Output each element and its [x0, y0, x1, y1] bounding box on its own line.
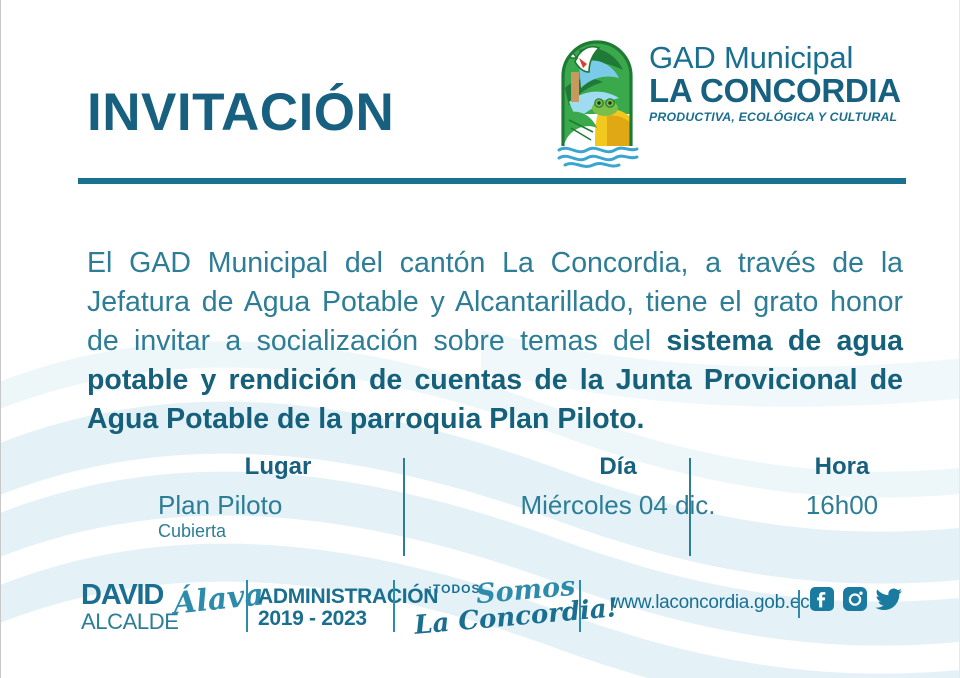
detail-dia: Día Miércoles 04 dic.: [473, 452, 763, 522]
logo-wordmark: GAD Municipal LA CONCORDIA PRODUCTIVA, E…: [649, 42, 899, 124]
header: INVITACIÓN: [1, 0, 960, 180]
website-url[interactable]: www.laconcordia.gob.ec: [611, 592, 809, 614]
city-slogan-logo: ¡TODOS Somos La Concordia!: [406, 578, 571, 636]
footer-separator-1: [246, 580, 248, 632]
logo-tagline: PRODUCTIVA, ECOLÓGICA Y CULTURAL: [649, 110, 899, 124]
detail-dia-label: Día: [473, 452, 763, 482]
detail-hora-value: 16h00: [778, 488, 906, 522]
facebook-icon[interactable]: [809, 586, 835, 612]
logo-line-gad-municipal: GAD Municipal: [649, 42, 899, 74]
detail-dia-value: Miércoles 04 dic.: [473, 488, 763, 522]
footer-separator-3: [579, 580, 581, 632]
la-concordia-coat-of-arms-icon: [549, 28, 645, 168]
detail-separator-2: [689, 458, 691, 556]
brand-logo: GAD Municipal LA CONCORDIA PRODUCTIVA, E…: [549, 28, 899, 173]
detail-hora-label: Hora: [778, 452, 906, 482]
logo-line-la-concordia: LA CONCORDIA: [649, 74, 899, 108]
header-divider-rule: [78, 178, 906, 184]
detail-lugar-sub: Cubierta: [113, 520, 443, 542]
instagram-icon[interactable]: [842, 586, 868, 612]
invitation-card: INVITACIÓN: [0, 0, 960, 678]
detail-lugar-value: Plan Piloto: [113, 488, 443, 522]
footer-separator-4: [798, 590, 800, 618]
event-details: Lugar Plan Piloto Cubierta Día Miércoles…: [78, 452, 906, 558]
mayor-signature-block: DAVID Álava ALCALDE: [81, 582, 241, 638]
detail-lugar-label: Lugar: [113, 452, 443, 482]
slogan-todos: ¡TODOS: [428, 582, 480, 596]
detail-lugar: Lugar Plan Piloto Cubierta: [113, 452, 443, 542]
detail-separator-1: [403, 458, 405, 556]
detail-hora: Hora 16h00: [778, 452, 906, 522]
social-media-links: [809, 586, 903, 612]
footer-separator-2: [393, 580, 395, 632]
invitation-paragraph: El GAD Municipal del cantón La Concordia…: [87, 244, 903, 439]
footer: DAVID Álava ALCALDE ADMINISTRACIÓN 2019 …: [1, 578, 960, 646]
twitter-icon[interactable]: [875, 586, 903, 612]
page-title: INVITACIÓN: [87, 86, 394, 139]
